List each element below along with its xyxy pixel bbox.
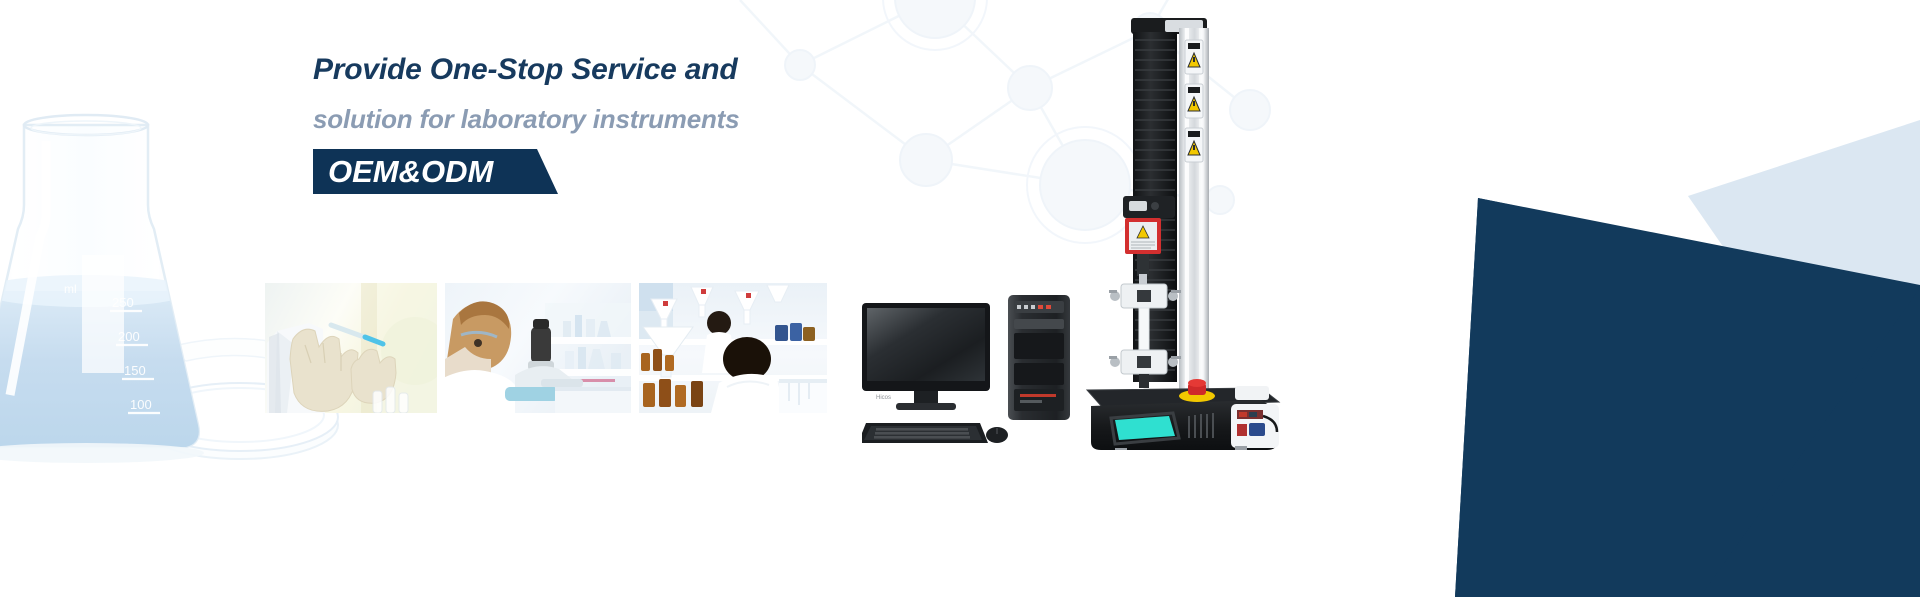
headline-block: Provide One-Stop Service and solution fo… (313, 55, 1013, 195)
triangle-light-blue (1688, 120, 1920, 320)
svg-text:ml: ml (64, 282, 77, 296)
badge-label: OEM&ODM (328, 154, 493, 190)
oem-odm-badge: OEM&ODM (313, 149, 558, 195)
warning-label-group (1185, 40, 1203, 162)
promotional-banner: 250 200 150 100 ml Provide One-Stop Serv… (0, 0, 1920, 597)
headline-line-1: Provide One-Stop Service and (313, 55, 1013, 85)
svg-text:100: 100 (130, 397, 152, 412)
keyboard-icon (862, 423, 988, 443)
svg-text:Hicos: Hicos (876, 395, 891, 401)
workstation-group: Hicos (862, 295, 1092, 450)
svg-text:150: 150 (124, 363, 146, 378)
photo-gloved-hands-pipette (265, 283, 437, 413)
mouse-icon (986, 427, 1008, 443)
triangle-dark-navy (1455, 198, 1920, 597)
svg-text:200: 200 (118, 329, 140, 344)
photo-strip (265, 283, 827, 413)
photo-microscope-researcher (445, 283, 631, 413)
computer-monitor-icon: Hicos (862, 303, 990, 410)
tensile-testing-machine-icon (1085, 18, 1300, 450)
photo-laboratory-workers (639, 283, 827, 413)
headline-line-2: solution for laboratory instruments (313, 106, 1013, 132)
svg-text:250: 250 (112, 295, 134, 310)
computer-tower-icon (1008, 295, 1070, 420)
